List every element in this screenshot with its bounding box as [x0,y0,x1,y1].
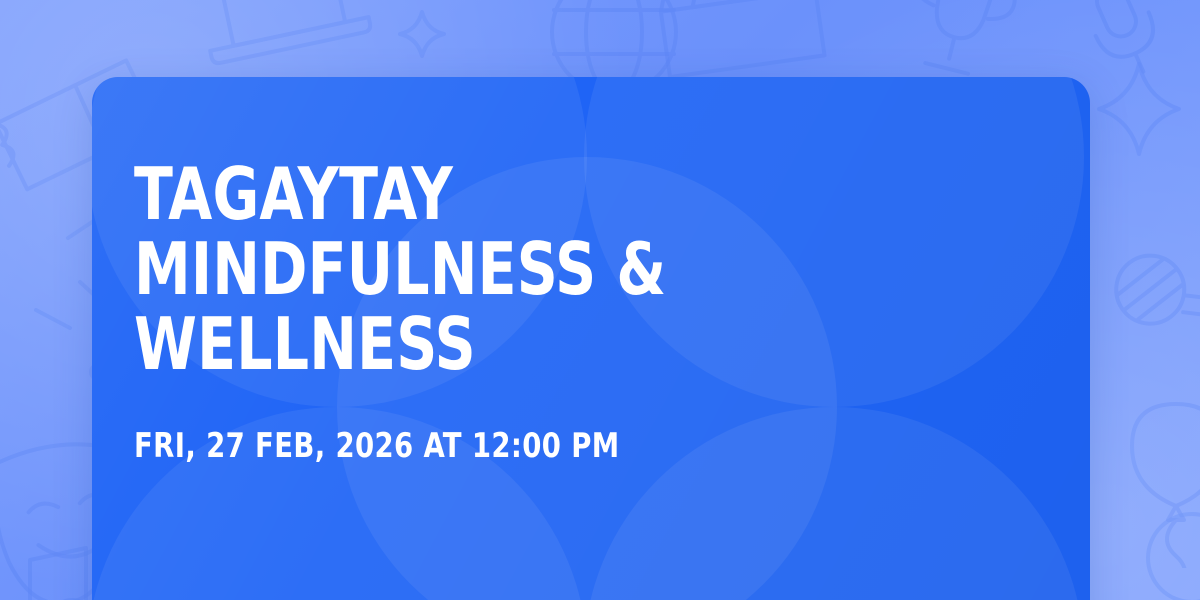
event-card[interactable]: Tagaytay Mindfulness & Wellness Fri, 27 … [92,77,1090,600]
laptop-icon [192,0,382,88]
film-clapper-icon [640,0,850,84]
sparkle-icon [392,4,452,64]
event-title: Tagaytay Mindfulness & Wellness [134,157,847,382]
event-datetime: Fri, 27 Feb, 2026 at 12:00 PM [134,428,940,465]
card-content: Tagaytay Mindfulness & Wellness Fri, 27 … [134,157,1030,465]
microphone-icon [1068,0,1178,86]
star-sparkle-icon [1084,54,1194,164]
event-banner: Tagaytay Mindfulness & Wellness Fri, 27 … [0,0,1200,600]
balloon-icon [1116,388,1200,568]
microphone-icon [1102,228,1200,368]
balloon-icon [1136,500,1200,600]
